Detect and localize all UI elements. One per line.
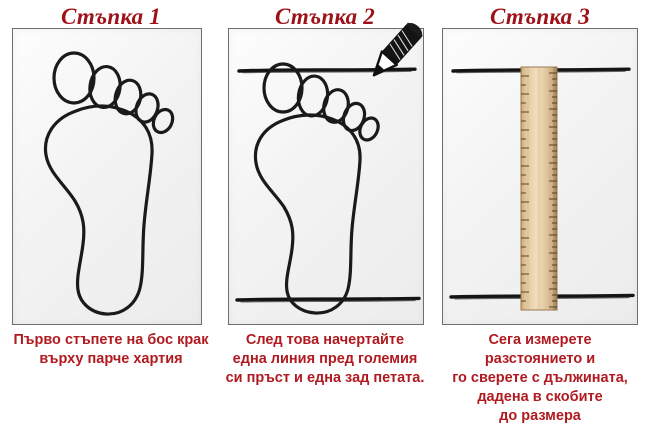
step-3-caption: Сега измерете разстоянието и го сверете … bbox=[428, 325, 652, 426]
foot-outline-icon bbox=[255, 64, 381, 313]
step-2-panel-wrap bbox=[222, 28, 428, 325]
step-1-panel bbox=[12, 28, 202, 325]
step-2-caption-line-1: След това начертайте bbox=[222, 331, 428, 350]
foot-outline-icon bbox=[13, 29, 201, 324]
step-1-panel-wrap bbox=[0, 28, 222, 325]
step-1-title: Стъпка 1 bbox=[0, 0, 222, 28]
step-2-title: Стъпка 2 bbox=[222, 0, 428, 28]
step-3-panel-wrap bbox=[428, 28, 652, 325]
line-front-toe-icon bbox=[239, 69, 415, 72]
step-3-title: Стъпка 3 bbox=[428, 0, 652, 28]
step-2-caption-line-2: една линия пред големия bbox=[222, 350, 428, 369]
step-column-3: Стъпка 3 bbox=[428, 0, 652, 443]
step-3-caption-line-1: Сега измерете bbox=[428, 331, 652, 350]
step-2-caption-line-3: си пръст и една зад петата. bbox=[222, 369, 428, 388]
foot-outline-with-lines-icon bbox=[229, 29, 423, 324]
step-3-caption-line-3: го сверете с дължината, bbox=[428, 369, 652, 388]
step-1-caption-line-2: върху парче хартия bbox=[0, 350, 222, 369]
ruler-icon bbox=[521, 67, 557, 310]
step-column-1: Стъпка 1 bbox=[0, 0, 222, 443]
step-1-caption-line-1: Първо стъпете на бос крак bbox=[0, 331, 222, 350]
step-3-caption-line-5: до размера bbox=[428, 407, 652, 426]
ruler-measuring-icon bbox=[443, 29, 637, 324]
step-column-2: Стъпка 2 bbox=[222, 0, 428, 443]
step-2-caption: След това начертайте една линия пред гол… bbox=[222, 325, 428, 388]
line-behind-heel-icon bbox=[237, 298, 419, 301]
step-3-panel bbox=[442, 28, 638, 325]
instruction-infographic: Стъпка 1 bbox=[0, 0, 652, 443]
step-3-caption-line-2: разстоянието и bbox=[428, 350, 652, 369]
step-2-panel bbox=[228, 28, 424, 325]
step-3-caption-line-4: дадена в скобите bbox=[428, 388, 652, 407]
step-1-caption: Първо стъпете на бос крак върху парче ха… bbox=[0, 325, 222, 369]
